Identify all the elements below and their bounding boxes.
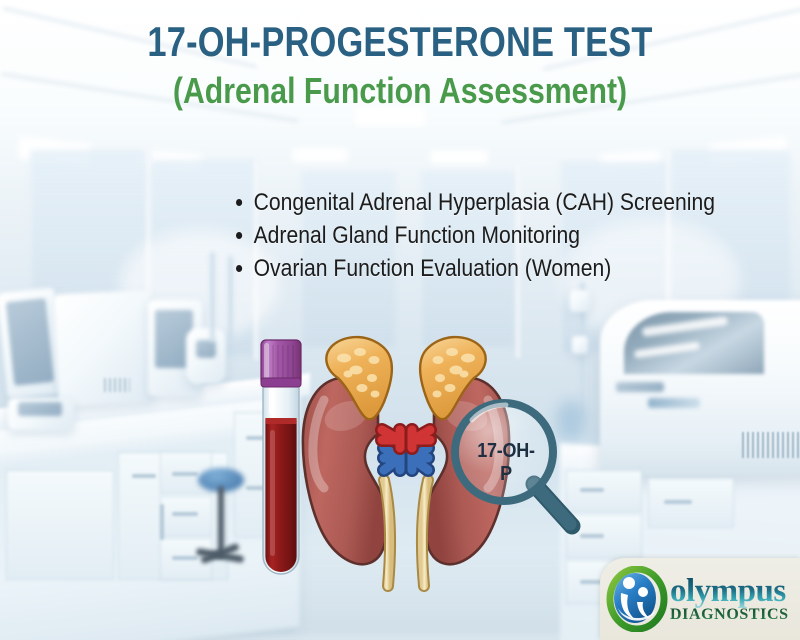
- cabinet-drawer: [6, 470, 114, 580]
- brand-logo: olympus DIAGNOSTICS: [600, 558, 800, 640]
- magnifier-label: 17-OH-P: [472, 440, 540, 486]
- cabinet-drawer: [160, 496, 212, 536]
- logo-brand-name: olympus: [670, 575, 789, 608]
- lab-fixture: [570, 290, 590, 312]
- lab-fixture: [572, 336, 588, 354]
- page-title: 17-OH-PROGESTERONE TEST: [72, 20, 728, 64]
- blood-collection-tube: [258, 338, 304, 582]
- drawer-handle: [172, 512, 198, 516]
- logo-brand-sub: DIAGNOSTICS: [670, 607, 789, 623]
- page-subtitle: (Adrenal Function Assessment): [64, 70, 736, 112]
- ceiling-light: [292, 148, 348, 162]
- instrument-display: [196, 340, 216, 358]
- analyzer-vent: [742, 432, 800, 458]
- drawer-handle: [664, 500, 692, 504]
- feature-list: Congenital Adrenal Hyperplasia (CAH) Scr…: [236, 186, 780, 285]
- poster-canvas: 17-OH-PROGESTERONE TEST (Adrenal Functio…: [0, 0, 800, 640]
- cabinet-handle: [160, 504, 164, 540]
- renal-arteries: [382, 430, 430, 448]
- analyzer-side-panel: [616, 382, 664, 392]
- lab-monitor-screen: [6, 298, 55, 386]
- equipment-vent: [104, 378, 130, 392]
- drawer-handle: [132, 474, 156, 478]
- lab-pole: [228, 256, 233, 342]
- drawer-handle: [172, 556, 198, 560]
- drawer-handle: [172, 472, 198, 476]
- list-item: Ovarian Function Evaluation (Women): [236, 252, 715, 285]
- ceiling-light: [430, 150, 488, 164]
- title-block: 17-OH-PROGESTERONE TEST (Adrenal Functio…: [0, 20, 800, 112]
- sample-tray-insert: [18, 402, 62, 416]
- logo-text-block: olympus DIAGNOSTICS: [670, 575, 789, 623]
- list-item: Congenital Adrenal Hyperplasia (CAH) Scr…: [236, 186, 715, 219]
- list-item: Adrenal Gland Function Monitoring: [236, 219, 715, 252]
- lab-pole: [210, 252, 215, 342]
- analyzer-drawer: [648, 398, 700, 408]
- logo-mark-icon: [606, 566, 668, 632]
